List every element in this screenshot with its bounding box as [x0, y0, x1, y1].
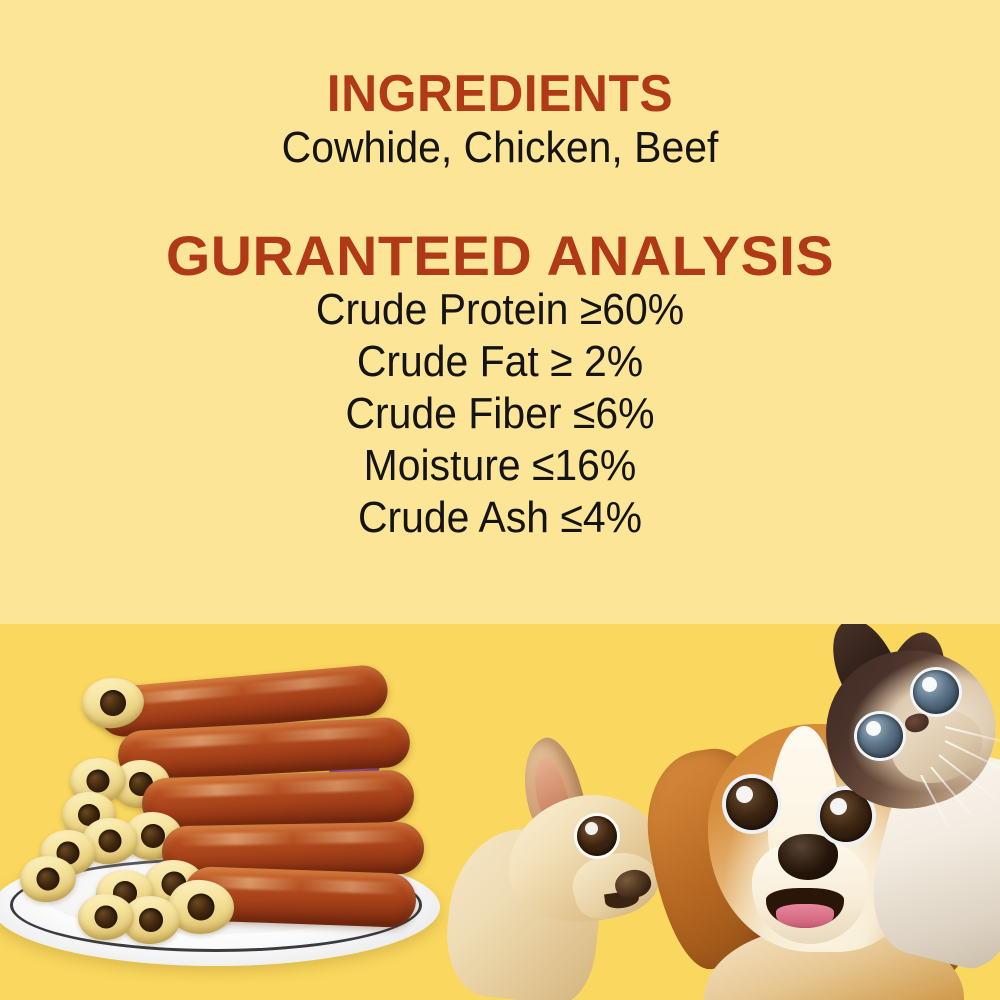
analysis-row-crude-fat: Crude Fat ≥ 2%	[35, 340, 965, 384]
treat-core	[99, 689, 127, 717]
guaranteed-analysis-list: Crude Protein ≥60% Crude Fat ≥ 2% Crude …	[0, 288, 1000, 548]
product-label-poster: INGREDIENTS Cowhide, Chicken, Beef GURAN…	[0, 0, 1000, 1000]
treat-core	[187, 893, 215, 921]
treat-core	[98, 829, 123, 854]
treat-roll	[141, 769, 415, 830]
himalayan-cat-photo	[795, 624, 1000, 952]
ingredients-heading: INGREDIENTS	[20, 68, 980, 120]
spaniel-left-eye	[726, 778, 778, 830]
chihuahua-eye	[577, 816, 617, 856]
analysis-row-crude-fiber: Crude Fiber ≤6%	[35, 392, 965, 436]
ingredients-list: Cowhide, Chicken, Beef	[35, 126, 965, 170]
pets-photo-group	[455, 624, 1000, 1000]
product-photo-band	[0, 624, 1000, 1000]
guaranteed-analysis-heading: GURANTEED ANALYSIS	[0, 228, 1000, 284]
treat-core	[85, 768, 110, 793]
chihuahua-photo	[455, 742, 670, 1000]
cat-left-eye	[857, 714, 903, 758]
treat-core	[139, 908, 163, 932]
treat-plate-photo	[0, 652, 452, 1000]
analysis-row-moisture: Moisture ≤16%	[35, 444, 965, 488]
nutrition-info-panel: INGREDIENTS Cowhide, Chicken, Beef GURAN…	[0, 0, 1000, 624]
cat-right-eye	[913, 670, 959, 714]
treat-core	[94, 905, 118, 929]
treat-stack	[0, 652, 452, 982]
analysis-row-crude-ash: Crude Ash ≤4%	[35, 496, 965, 540]
analysis-row-crude-protein: Crude Protein ≥60%	[35, 288, 965, 332]
treat-core	[36, 867, 61, 892]
